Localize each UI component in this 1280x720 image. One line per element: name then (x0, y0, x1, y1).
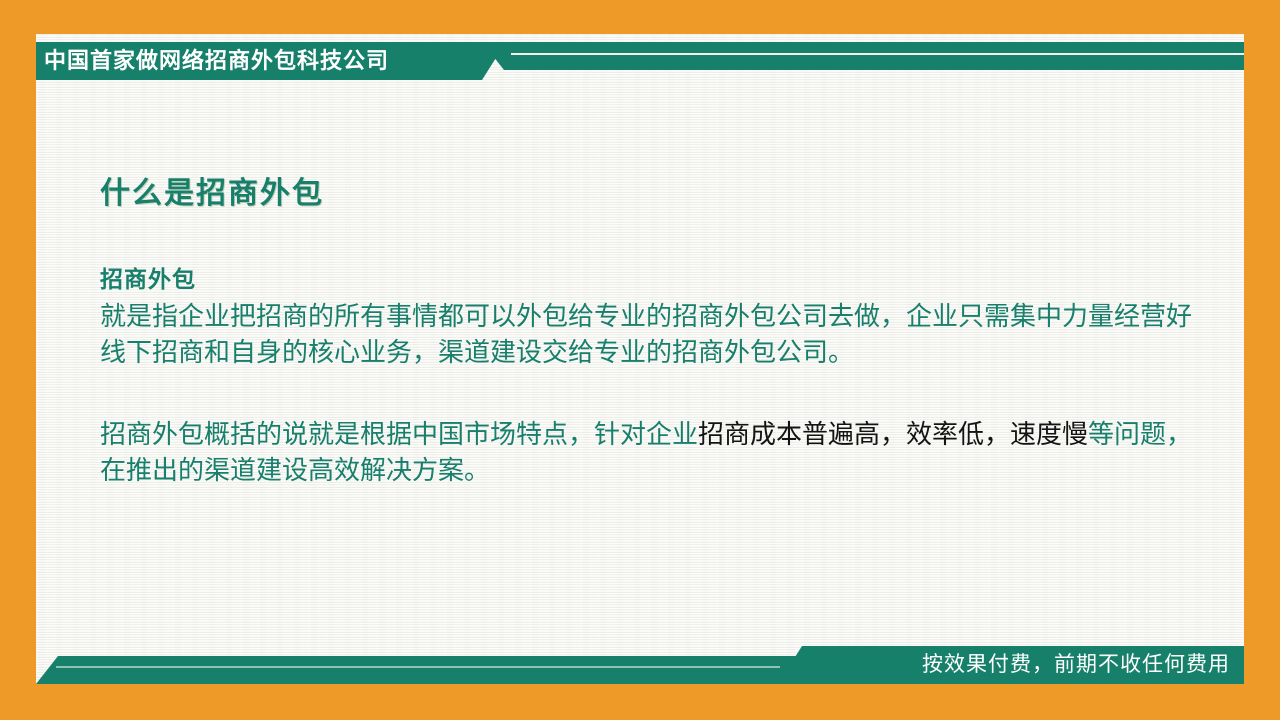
header-title: 中国首家做网络招商外包科技公司 (44, 43, 464, 79)
slide-canvas: 中国首家做网络招商外包科技公司 什么是招商外包 招商外包 就是指企业把招商的所有… (0, 0, 1280, 720)
main-content: 什么是招商外包 招商外包 就是指企业把招商的所有事情都可以外包给专业的招商外包公… (100, 168, 1220, 488)
summary-paragraph: 招商外包概括的说就是根据中国市场特点，针对企业招商成本普遍高，效率低，速度慢等问… (100, 416, 1210, 488)
page-title: 什么是招商外包 (100, 168, 1220, 212)
definition-term: 招商外包 (100, 260, 1220, 294)
summary-text-highlight: 招商成本普遍高，效率低，速度慢 (698, 419, 1088, 449)
summary-text-lead: 招商外包概括的说就是根据中国市场特点，针对企业 (100, 419, 698, 449)
definition-paragraph: 就是指企业把招商的所有事情都可以外包给专业的招商外包公司去做，企业只需集中力量经… (100, 298, 1210, 370)
